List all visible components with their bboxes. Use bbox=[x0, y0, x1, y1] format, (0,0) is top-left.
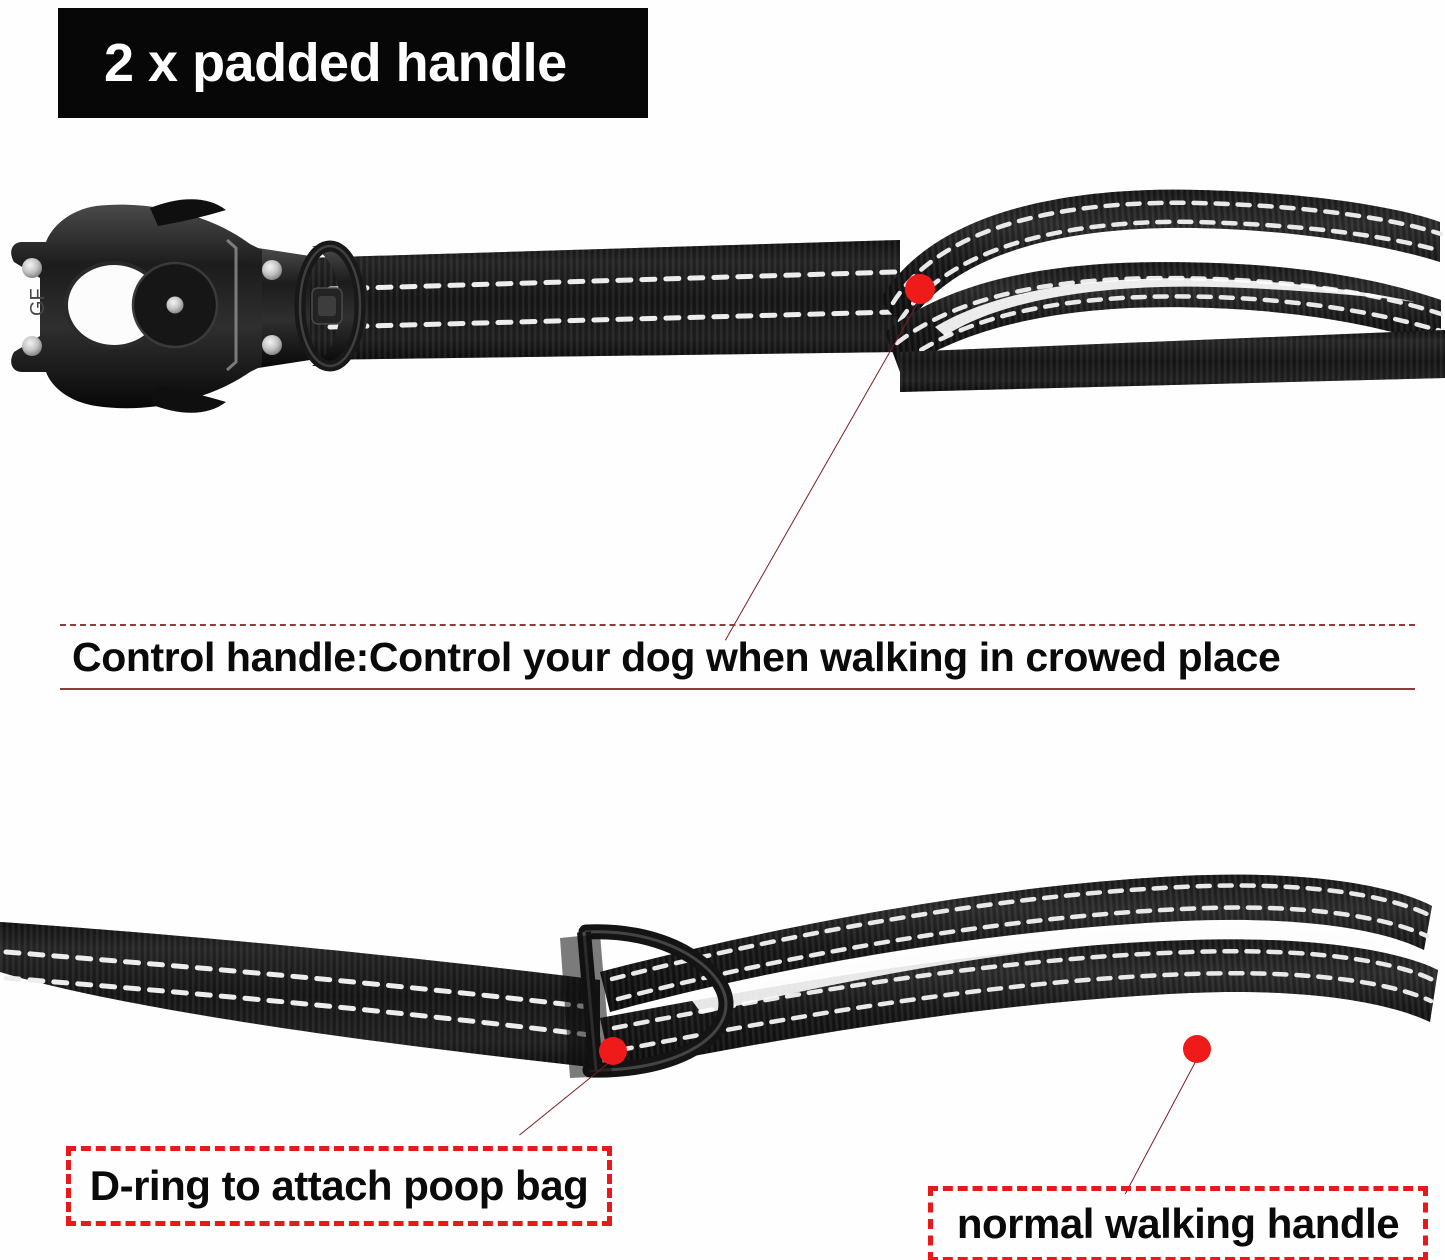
banner-title: 2 x padded handle bbox=[58, 32, 567, 94]
header-banner: 2 x padded handle bbox=[58, 8, 648, 118]
frog-clasp-hook: GF bbox=[11, 199, 310, 413]
caption-control-handle-text: Control handle:Control your dog when wal… bbox=[60, 634, 1280, 681]
screw bbox=[22, 258, 42, 278]
caption-normal-handle: normal walking handle bbox=[928, 1186, 1428, 1260]
caption-d-ring: D-ring to attach poop bag bbox=[66, 1146, 612, 1226]
screw bbox=[22, 336, 42, 356]
walking-handle-loop bbox=[600, 875, 1438, 1072]
control-handle-marker bbox=[905, 274, 935, 304]
screw bbox=[262, 260, 282, 280]
product-infographic: GF bbox=[0, 0, 1445, 1260]
d-ring-marker bbox=[599, 1037, 627, 1065]
caption-d-ring-text: D-ring to attach poop bag bbox=[90, 1162, 588, 1210]
svg-text:GF: GF bbox=[27, 288, 49, 316]
caption-normal-handle-text: normal walking handle bbox=[957, 1200, 1399, 1248]
lower-webbing-strap bbox=[0, 922, 600, 1068]
caption-control-handle: Control handle:Control your dog when wal… bbox=[60, 624, 1415, 690]
control-handle-loop bbox=[880, 190, 1445, 392]
upper-webbing-strap bbox=[305, 240, 900, 360]
center-screw bbox=[167, 297, 184, 314]
normal-handle-marker bbox=[1183, 1035, 1211, 1063]
screw bbox=[262, 335, 282, 355]
